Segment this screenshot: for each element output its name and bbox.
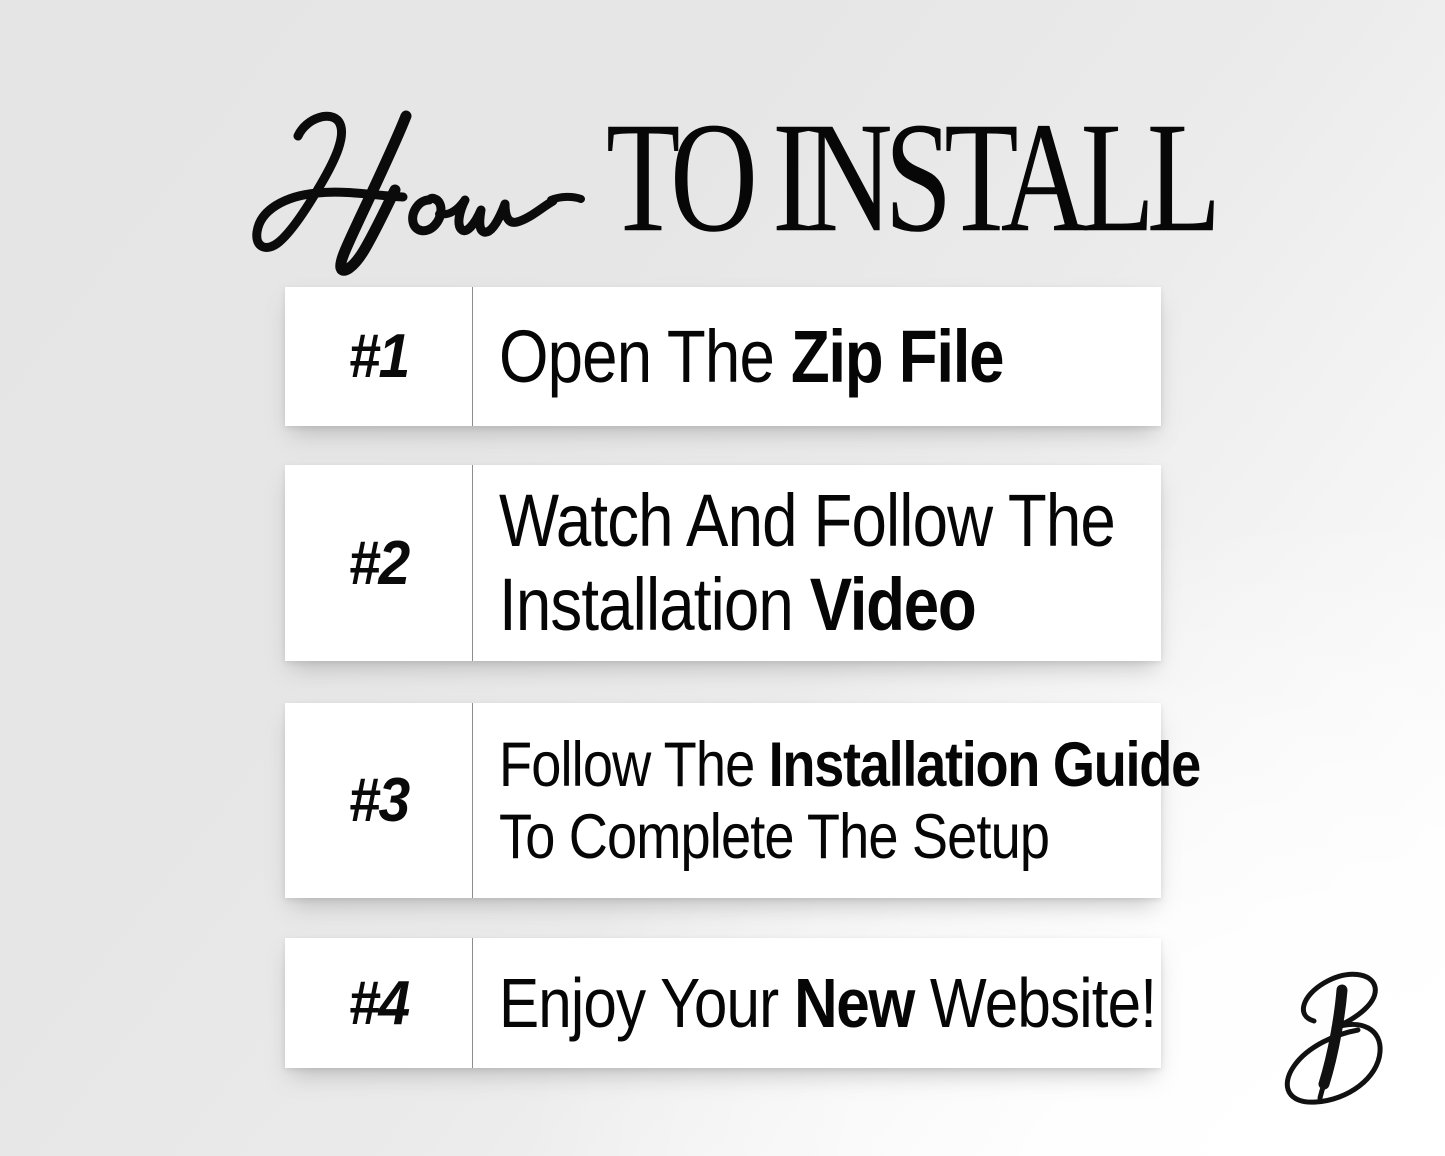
step-line: Watch And Follow The [499, 479, 1060, 563]
step-card-1: #1 Open The Zip File [285, 287, 1161, 426]
step-card-3: #3 Follow The Installation Guide To Comp… [285, 703, 1161, 898]
step-number-3: #3 [292, 703, 464, 898]
step-number-1: #1 [292, 287, 464, 426]
title-serif-words: TO INSTALL [606, 94, 1118, 260]
step-text-bold: Zip File [791, 315, 1003, 398]
step-number-2: #2 [292, 465, 464, 661]
step-text-normal-after: Website! [914, 964, 1156, 1042]
step-card-4: #4 Enjoy Your New Website! [285, 938, 1161, 1068]
step-line: Enjoy Your New Website! [499, 965, 1060, 1041]
script-how-icon [243, 104, 603, 284]
step-card-2: #2 Watch And Follow The Installation Vid… [285, 465, 1161, 661]
script-b-monogram-icon [1258, 948, 1433, 1133]
step-text-2: Watch And Follow The Installation Video [473, 465, 1161, 661]
step-text-normal: Enjoy Your [499, 964, 794, 1042]
step-text-normal: Open The [499, 315, 791, 398]
step-text-normal: Watch And Follow The [499, 479, 1115, 562]
step-text-1: Open The Zip File [473, 287, 1161, 426]
step-text-bold: New [794, 964, 914, 1042]
step-line: Open The Zip File [499, 317, 1060, 397]
step-text-normal: To Complete The Setup [499, 802, 1049, 872]
title-script-word-how [243, 104, 603, 284]
step-text-3: Follow The Installation Guide To Complet… [473, 703, 1161, 898]
step-line: Installation Video [499, 563, 1060, 647]
step-text-bold: Video [810, 563, 976, 646]
step-text-normal: Follow The [499, 730, 769, 800]
step-line: To Complete The Setup [499, 801, 1060, 873]
step-text-4: Enjoy Your New Website! [473, 938, 1161, 1068]
step-number-4: #4 [292, 938, 464, 1068]
step-text-normal: Installation [499, 563, 810, 646]
page-title: TO INSTALL [0, 46, 1445, 246]
step-text-bold: Installation Guide [769, 730, 1200, 800]
step-line: Follow The Installation Guide [499, 729, 1060, 801]
brand-logo-b [1258, 948, 1433, 1133]
